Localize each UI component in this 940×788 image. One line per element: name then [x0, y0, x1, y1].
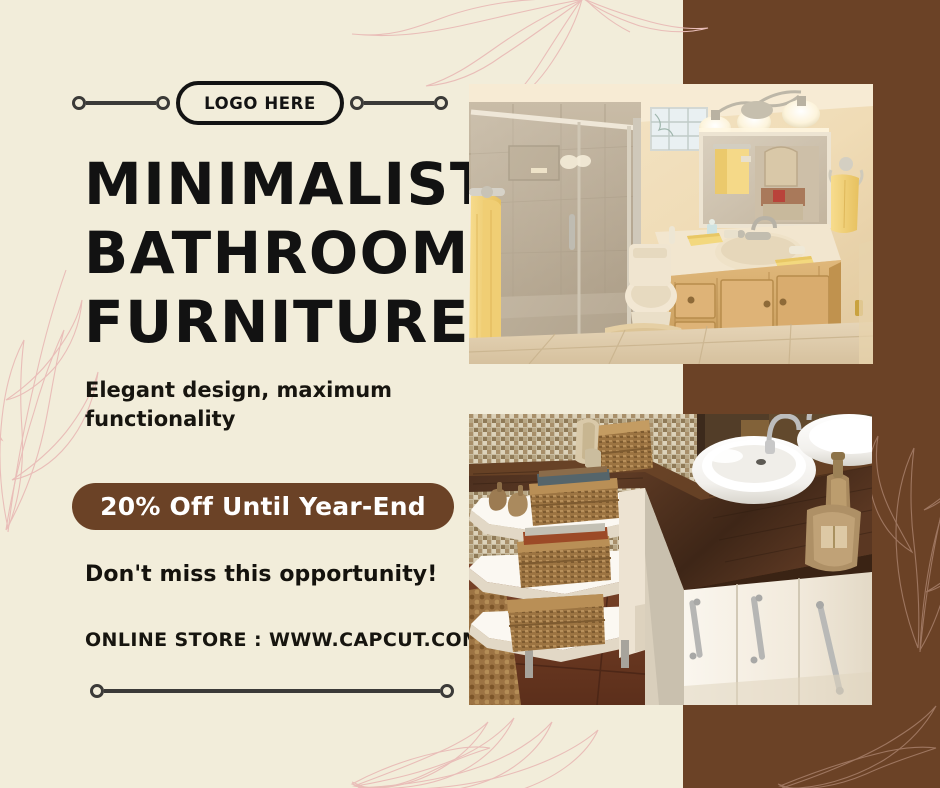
modern-bathroom-photo — [469, 414, 872, 705]
logo-label: LOGO HERE — [204, 94, 316, 113]
connector-dot-icon — [350, 96, 364, 110]
logo-placeholder-badge[interactable]: LOGO HERE — [176, 81, 344, 125]
online-store-text: ONLINE STORE : WWW.CAPCUT.COM — [85, 629, 481, 651]
circle-endpoint-icon — [440, 684, 454, 698]
connector-dot-icon — [156, 96, 170, 110]
headline-line-2: BATHROOM — [84, 219, 484, 288]
tagline-text: Don't miss this opportunity! — [85, 562, 437, 587]
connector-dot-icon — [72, 96, 86, 110]
page-title: MINIMALIST BATHROOM FURNITURE — [84, 150, 484, 357]
discount-badge[interactable]: 20% Off Until Year-End — [72, 483, 454, 530]
headline-line-3: FURNITURE — [84, 288, 484, 357]
line-dot-connector-icon-left — [72, 96, 170, 110]
subtitle-text: Elegant design, maximum functionality — [85, 376, 415, 434]
connector-dot-icon — [434, 96, 448, 110]
headline-line-1: MINIMALIST — [84, 150, 484, 219]
bottom-divider — [90, 684, 454, 698]
connector-bar — [86, 101, 156, 105]
poster-canvas: LOGO HERE MINIMALIST BATHROOM FURNITURE … — [0, 0, 940, 788]
logo-bar: LOGO HERE — [72, 80, 457, 126]
leaf-branch-decoration-bottom-left — [330, 706, 710, 788]
circle-endpoint-icon — [90, 684, 104, 698]
discount-label: 20% Off Until Year-End — [100, 492, 426, 521]
divider-bar — [104, 689, 440, 693]
traditional-bathroom-photo — [469, 84, 873, 364]
line-dot-connector-icon-right — [350, 96, 448, 110]
connector-bar — [364, 101, 434, 105]
